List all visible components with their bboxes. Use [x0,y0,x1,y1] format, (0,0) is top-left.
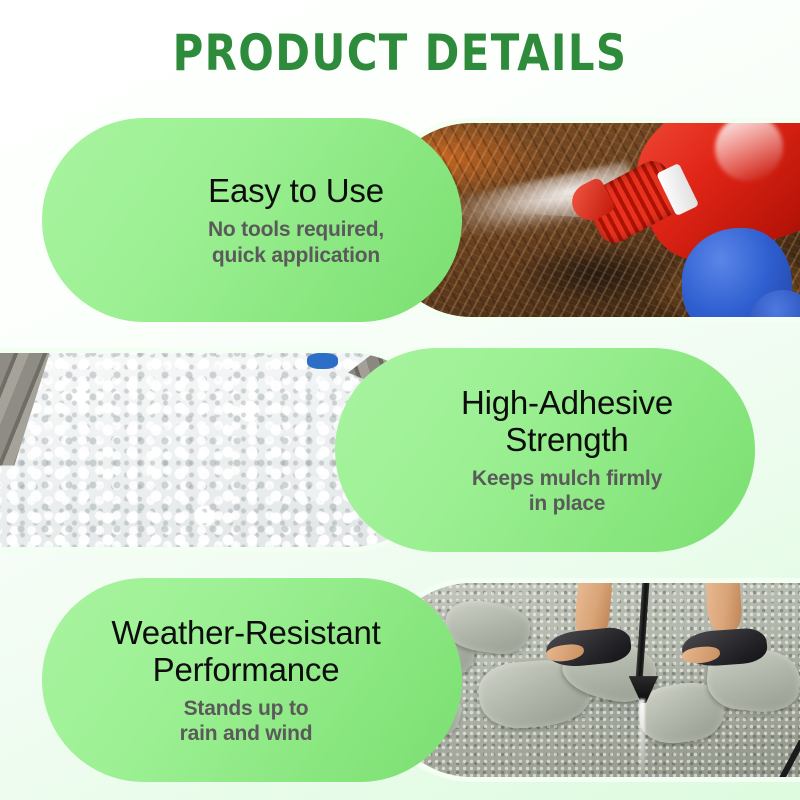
feature-subtitle-1-line-1: No tools required, [208,217,384,242]
feature-subtitle-2-line-1: Keeps mulch firmly [461,466,673,491]
feature-subtitle-3-line-2: rain and wind [111,721,380,746]
feature-subtitle-3-line-1: Stands up to [111,696,380,721]
feature-title-1: Easy to Use [208,172,384,209]
feature-card-high-adhesive-strength: High-Adhesive Strength Keeps mulch firml… [0,348,758,552]
feature-subtitle-2-line-2: in place [461,491,673,516]
feature-card-weather-resistant-performance: Weather-Resistant Performance Stands up … [42,578,800,782]
feature-subtitle-2: Keeps mulch firmly in place [461,466,673,516]
feature-card-easy-to-use: Easy to Use No tools required, quick app… [42,118,800,322]
spray-wand-jet [639,699,645,777]
feature-title-3-line-2: Performance [111,651,380,688]
feature-title-3: Weather-Resistant Performance [111,614,380,689]
feature-text-panel-2: High-Adhesive Strength Keeps mulch firml… [335,348,755,552]
feature-title-2-line-1: High-Adhesive [461,384,673,421]
feature-subtitle-3: Stands up to rain and wind [111,696,380,746]
blue-object [307,353,338,369]
feature-title-2-line-2: Strength [461,421,673,458]
feature-title-2: High-Adhesive Strength [461,384,673,459]
feature-title-3-line-1: Weather-Resistant [111,614,380,651]
page-title: PRODUCT DETAILS [28,0,772,78]
feature-text-panel-3: Weather-Resistant Performance Stands up … [42,578,462,782]
feature-subtitle-1: No tools required, quick application [208,217,384,267]
feature-text-panel-1: Easy to Use No tools required, quick app… [42,118,462,322]
feature-subtitle-1-line-2: quick application [208,243,384,268]
